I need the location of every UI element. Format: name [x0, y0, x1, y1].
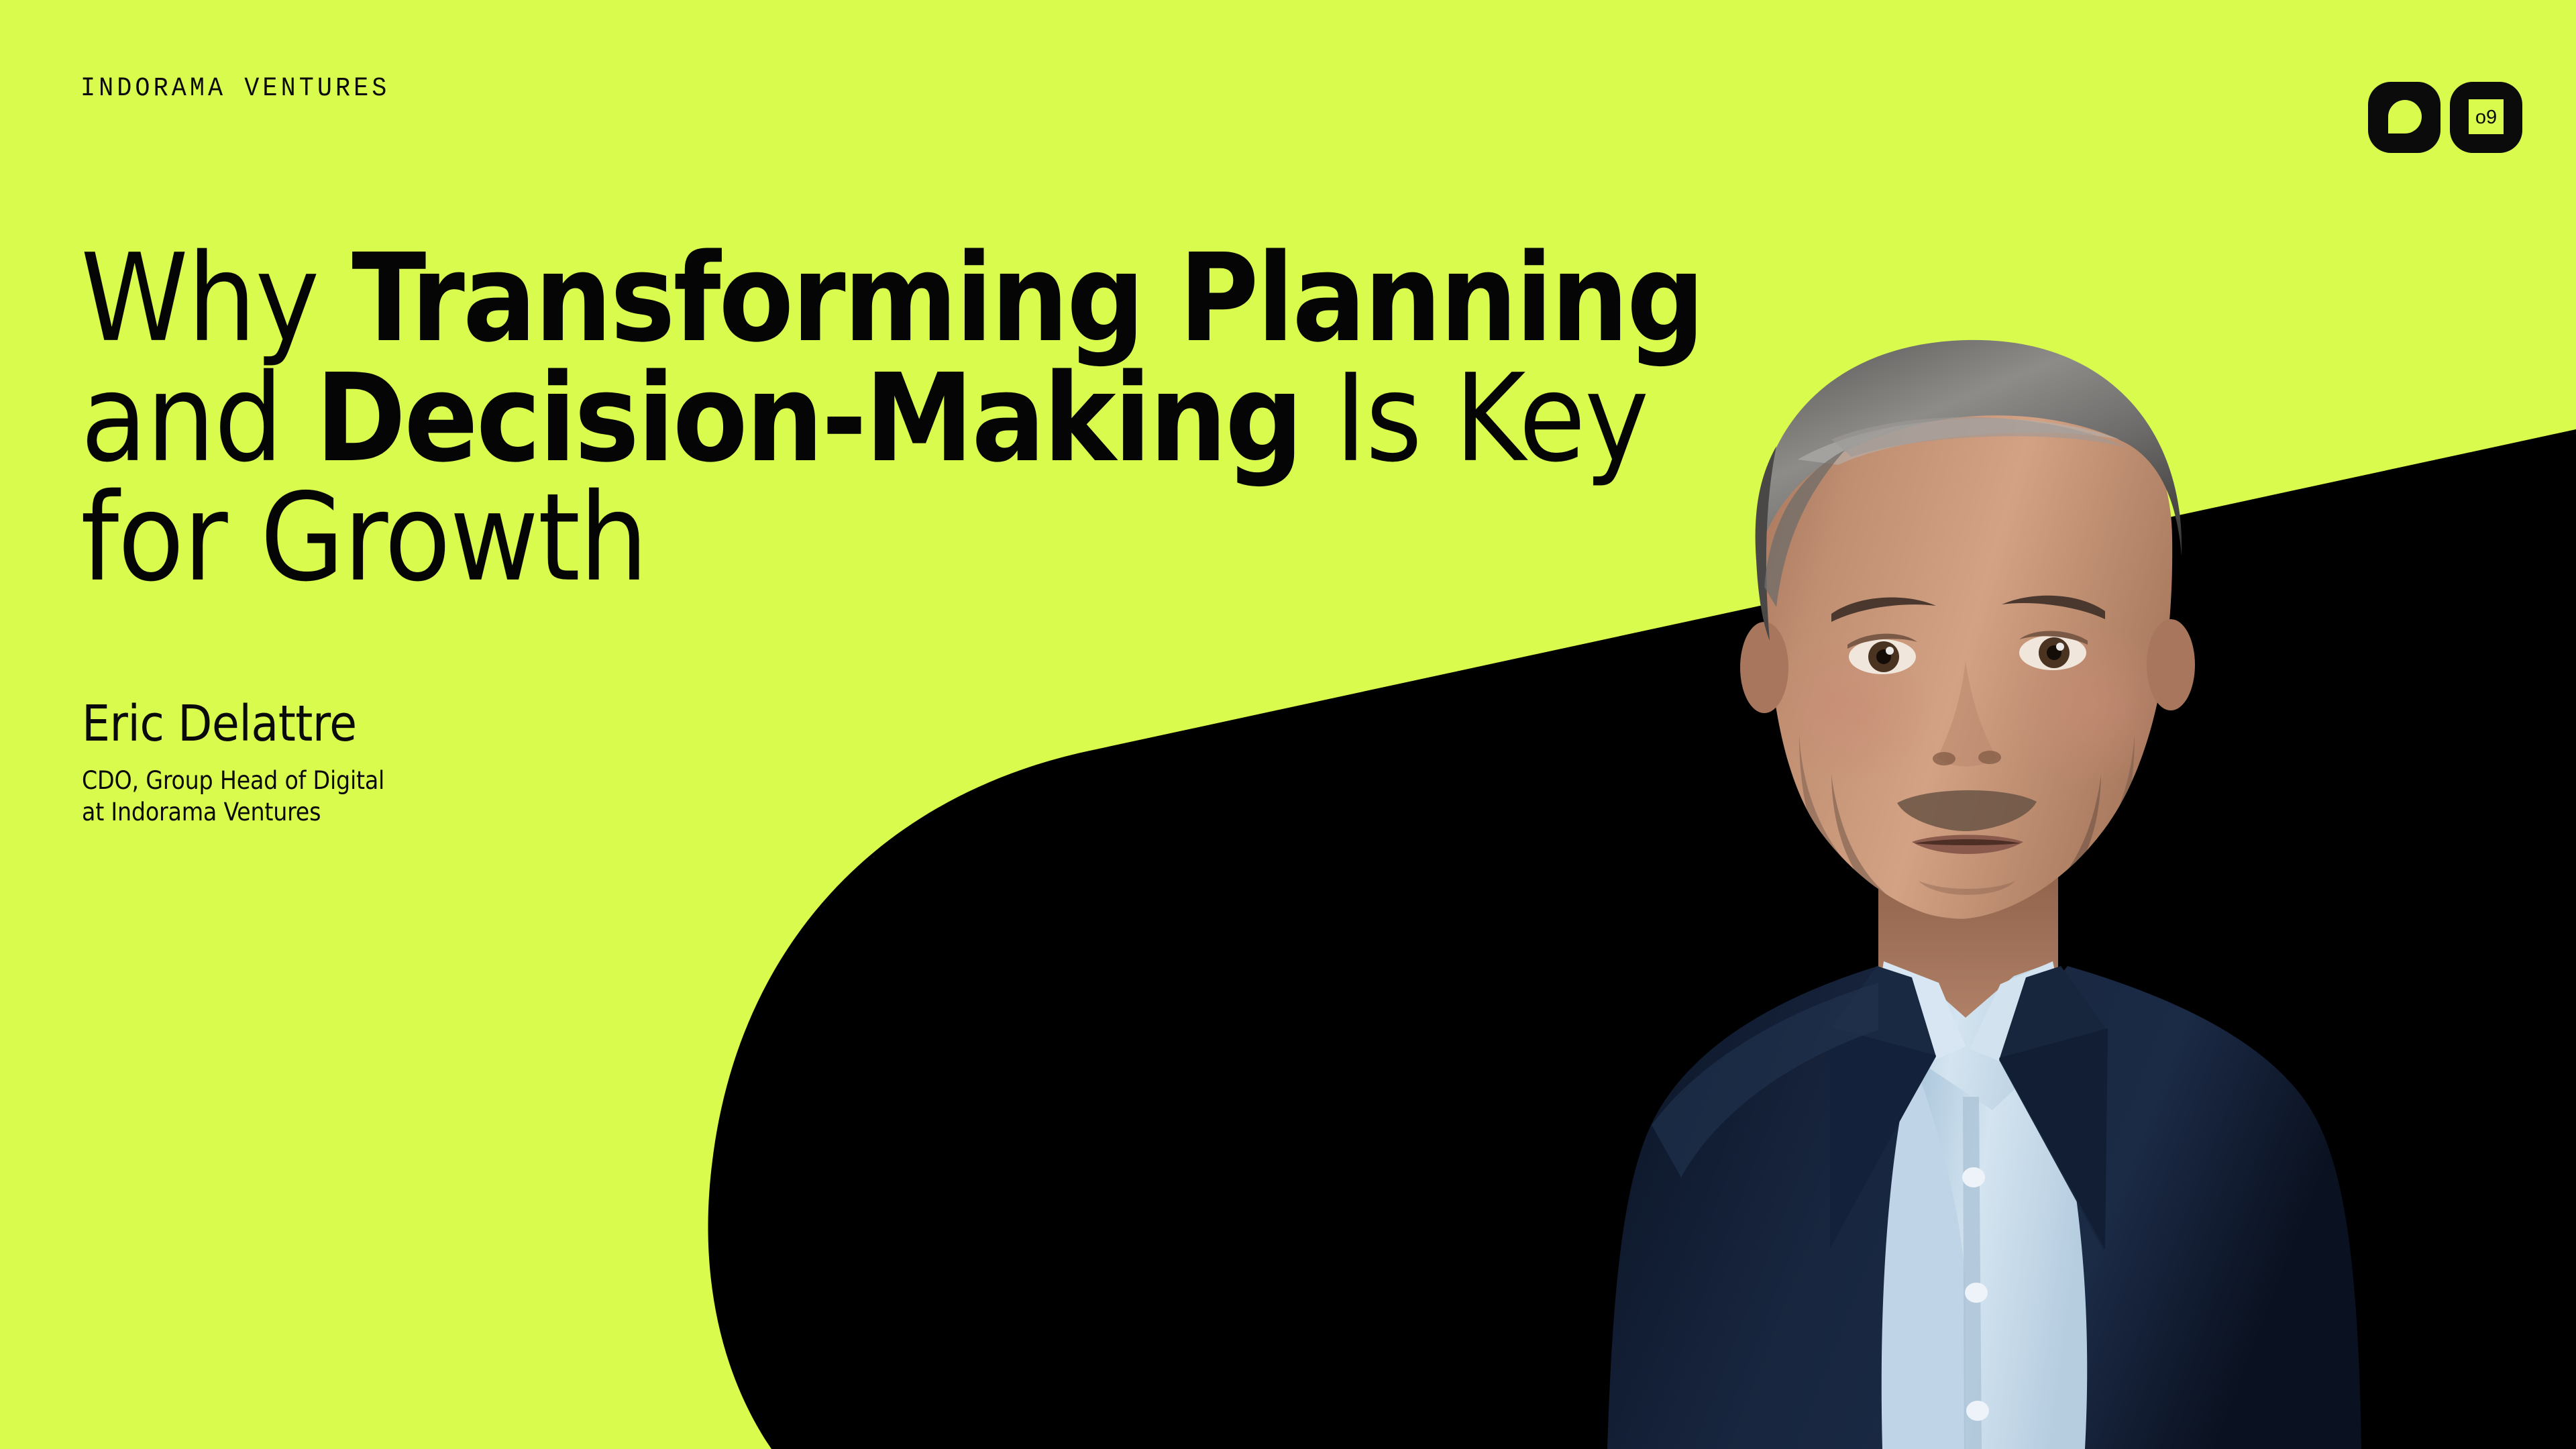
- page-title: Why Transforming Planning and Decision-M…: [80, 239, 2026, 598]
- o9-wordmark-tile-icon: o9: [2450, 82, 2522, 153]
- o9-petal-mark-icon: [2368, 82, 2440, 153]
- o9-wordmark-text: o9: [2475, 107, 2497, 128]
- headline-seg: for Growth: [80, 467, 647, 608]
- title-card-stage: INDORAMA VENTURES o9 Why Transforming Pl…: [0, 0, 2576, 1449]
- brand-label: INDORAMA VENTURES: [80, 74, 390, 104]
- speaker-name: Eric Delattre: [82, 699, 384, 749]
- headline-line-3: for Growth: [80, 478, 2026, 598]
- speaker-role: CDO, Group Head of Digital at Indorama V…: [82, 765, 384, 828]
- o9-logo-lockup[interactable]: o9: [2368, 82, 2522, 153]
- headline-line-1: Why Transforming Planning: [80, 239, 2026, 358]
- speaker-role-line-2: at Indorama Ventures: [82, 796, 384, 828]
- headline-seg: Is Key: [1301, 347, 1648, 489]
- speaker-role-line-1: CDO, Group Head of Digital: [82, 765, 384, 796]
- speaker-block: Eric Delattre CDO, Group Head of Digital…: [82, 699, 384, 828]
- headline-line-2: and Decision-Making Is Key: [80, 359, 2026, 478]
